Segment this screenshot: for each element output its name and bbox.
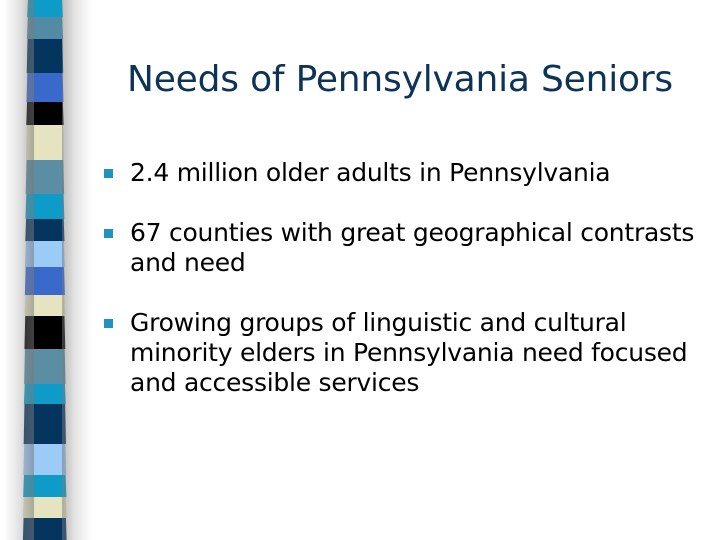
slide-title: Needs of Pennsylvania Seniors <box>96 58 704 102</box>
stripe-band <box>0 102 96 125</box>
stripe-band <box>0 73 96 102</box>
stripe-band <box>0 518 96 540</box>
stripe-band <box>0 17 96 39</box>
stripe-band <box>0 475 96 497</box>
bullet-text: 2.4 million older adults in Pennsylvania <box>130 158 708 188</box>
stripe-band <box>0 241 96 267</box>
square-bullet-icon <box>104 229 113 238</box>
bullet-item: 2.4 million older adults in Pennsylvania <box>96 158 708 188</box>
stripe-band <box>0 219 96 241</box>
stripe-band-stack <box>0 0 96 540</box>
bullet-text: Growing groups of linguistic and cultura… <box>130 308 708 398</box>
stripe-band <box>0 267 96 295</box>
stripe-band <box>0 316 96 349</box>
slide-bullet-list: 2.4 million older adults in Pennsylvania… <box>96 158 708 398</box>
stripe-band <box>0 384 96 404</box>
stripe-band <box>0 295 96 316</box>
stripe-band <box>0 39 96 73</box>
square-bullet-icon <box>104 319 113 328</box>
bullet-item: 67 counties with great geographical cont… <box>96 218 708 278</box>
bullet-item: Growing groups of linguistic and cultura… <box>96 308 708 398</box>
presentation-slide: Needs of Pennsylvania Seniors 2.4 millio… <box>0 0 720 540</box>
bullet-text: 67 counties with great geographical cont… <box>130 218 708 278</box>
stripe-band <box>0 444 96 475</box>
stripe-band <box>0 404 96 444</box>
stripe-band <box>0 160 96 194</box>
stripe-band <box>0 194 96 219</box>
stripe-band <box>0 0 96 17</box>
left-decorative-band <box>0 0 96 540</box>
stripe-band <box>0 349 96 384</box>
stripe-band <box>0 125 96 160</box>
stripe-band <box>0 497 96 518</box>
square-bullet-icon <box>104 169 113 178</box>
